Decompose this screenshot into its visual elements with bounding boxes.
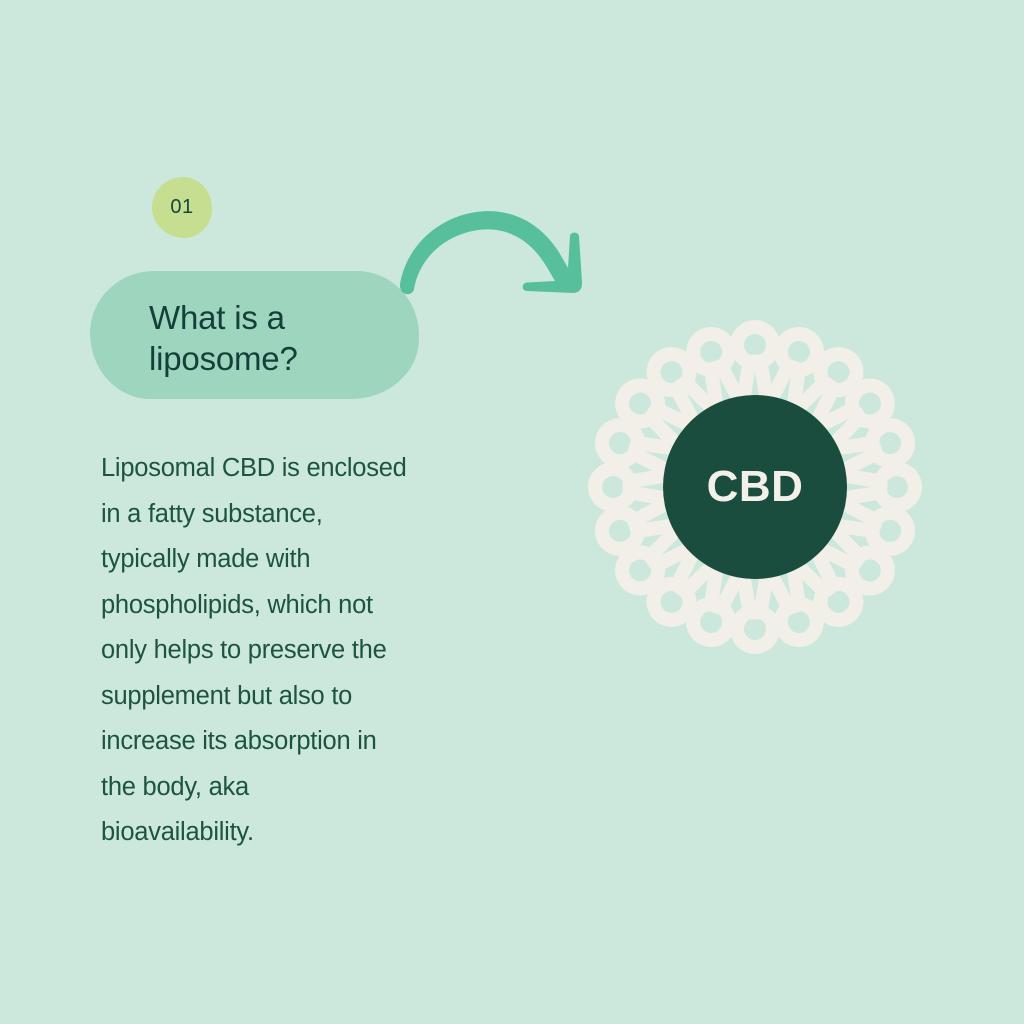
curved-arrow-icon — [392, 196, 592, 312]
body-paragraph: Liposomal CBD is enclosed in a fatty sub… — [101, 446, 496, 856]
phospholipid-head — [730, 604, 780, 654]
step-number-label: 01 — [170, 197, 193, 217]
phospholipid-head — [872, 462, 922, 512]
infographic-canvas: 01 What is a liposome? Liposomal CBD is … — [0, 0, 1024, 1024]
cbd-core-circle — [663, 395, 847, 579]
phospholipid-head — [588, 462, 638, 512]
step-number-badge: 01 — [152, 177, 212, 238]
liposome-illustration — [580, 312, 930, 662]
phospholipid-head — [730, 320, 780, 370]
